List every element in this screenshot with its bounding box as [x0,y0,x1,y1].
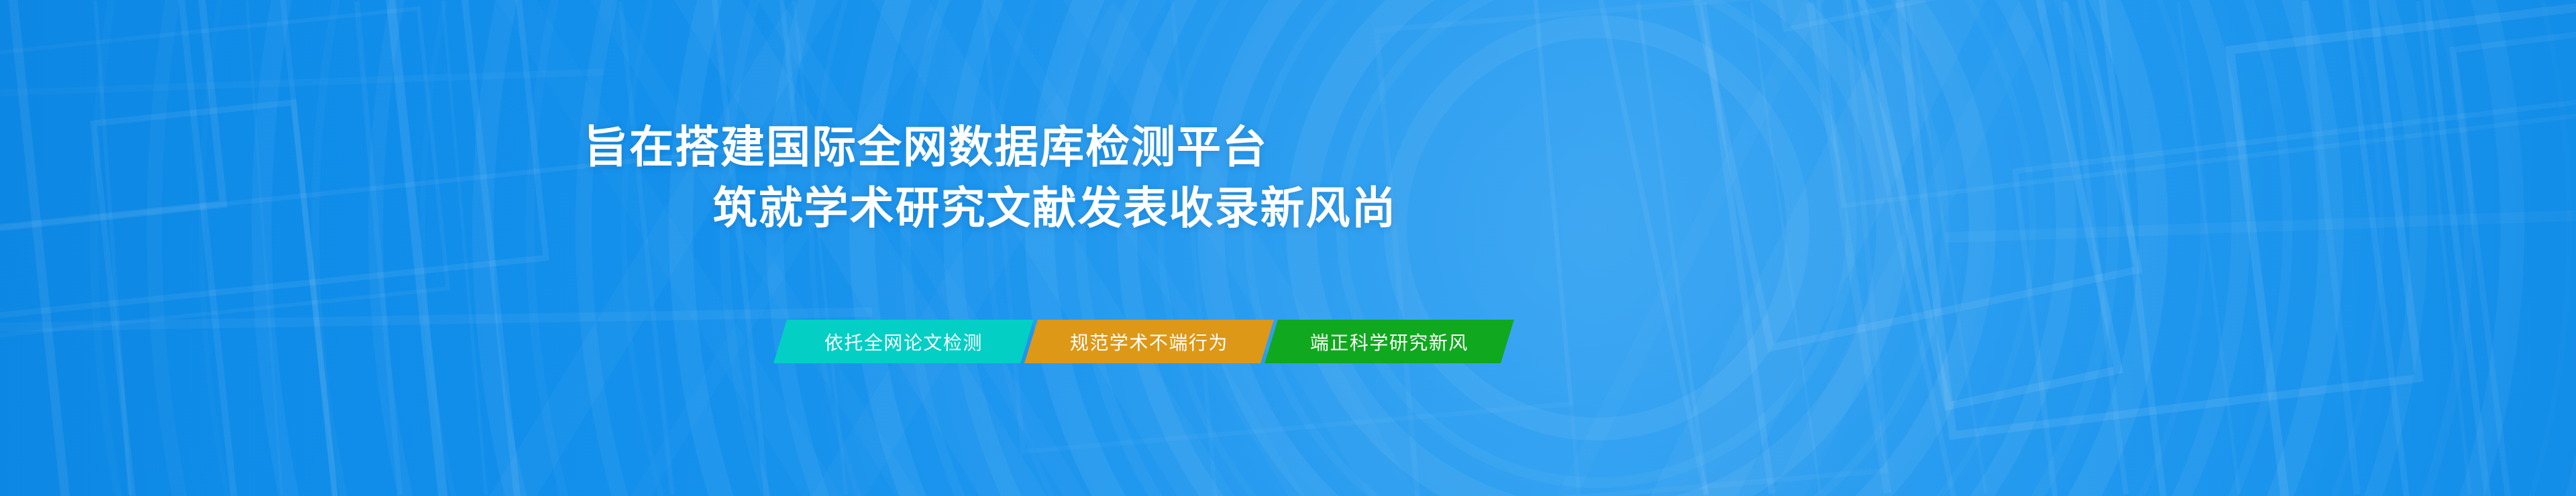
headline-line-2: 筑就学术研究文献发表收录新风尚 [0,186,1851,230]
background-vignette [0,0,2576,496]
headline-line-1: 旨在搭建国际全网数据库检测平台 [0,125,1851,169]
badge-misconduct-label: 规范学术不端行为 [1046,328,1252,355]
headline-block: 旨在搭建国际全网数据库检测平台 筑就学术研究文献发表收录新风尚 [0,125,1851,230]
background-grid-left [0,0,2576,496]
background-arcs-decoration [0,0,2576,496]
badge-research-ethos-label: 端正科学研究新风 [1286,328,1493,355]
badge-misconduct[interactable]: 规范学术不端行为 [1024,320,1274,363]
background-grid-right [0,0,2576,496]
promo-banner: 旨在搭建国际全网数据库检测平台 筑就学术研究文献发表收录新风尚 依托全网论文检测… [0,0,2576,496]
badge-paper-detection-label: 依托全网论文检测 [800,328,1007,355]
badge-research-ethos[interactable]: 端正科学研究新风 [1265,320,1514,363]
background-grid-mid [0,0,2576,496]
background-diagonal-bands [0,0,2576,496]
badge-row: 依托全网论文检测 规范学术不端行为 端正科学研究新风 [780,320,1507,363]
badge-paper-detection[interactable]: 依托全网论文检测 [773,320,1034,363]
background-gradient [0,0,2576,496]
